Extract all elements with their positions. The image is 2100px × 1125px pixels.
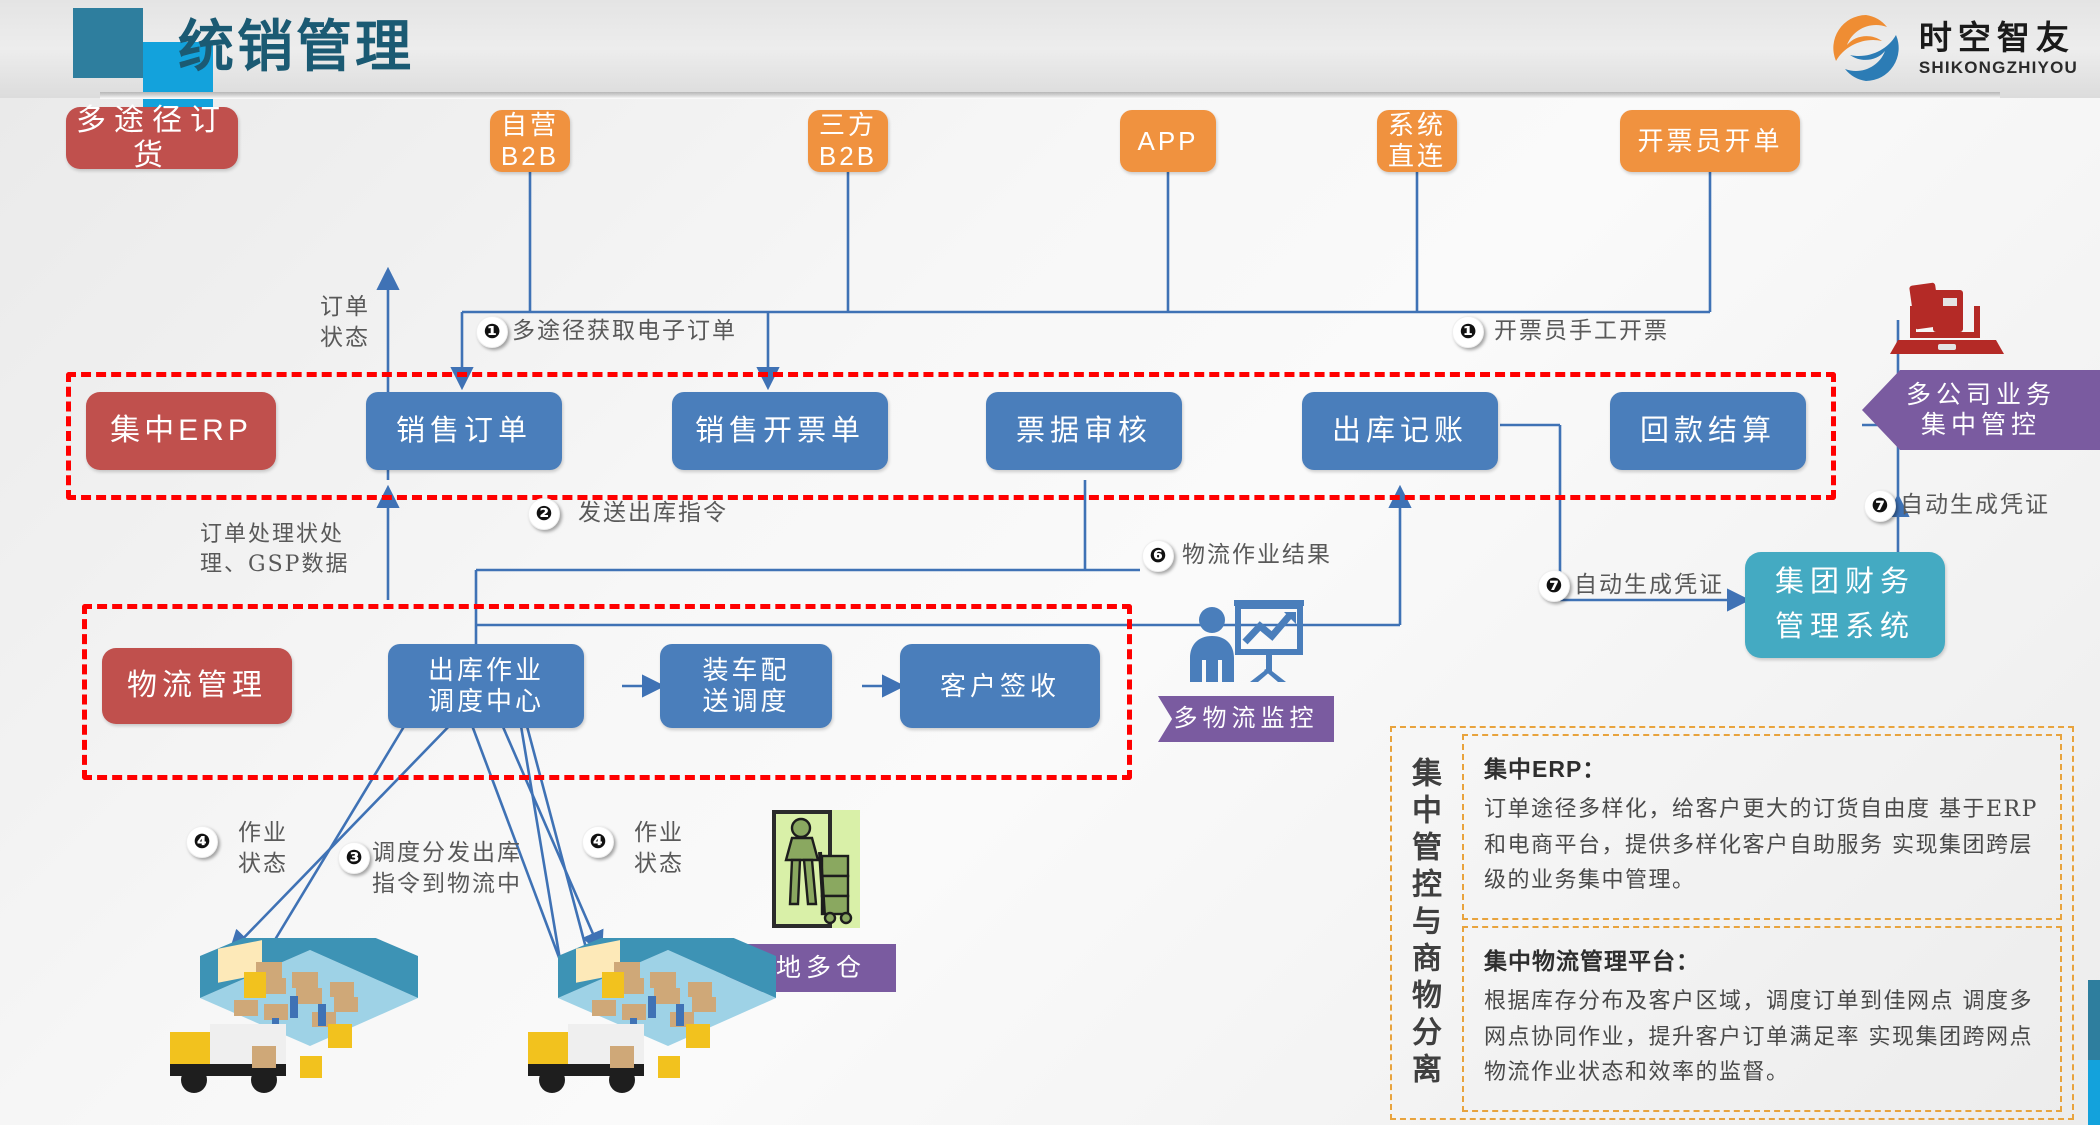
channel-box-self-b2b[interactable]: 自营 B2B [490,110,570,172]
info-panel-side-text: 集中管控与商物分离 [1401,757,1445,1090]
flow-badge-6-num: ❻ [1150,546,1167,566]
flow-label-send-outbound-cmd: 发送出库指令 [578,498,728,529]
erp-zone [66,372,1836,500]
erp-node-sales-invoice[interactable]: 销售开票单 [672,392,888,470]
erp-node-sales-order[interactable]: 销售订单 [366,392,562,470]
flow-badge-1b: ❶ [1452,316,1484,348]
erp-zone-label: 集中ERP [86,392,276,470]
flow-badge-4b: ❹ [582,826,614,858]
flow-badge-7a-num: ❼ [1546,576,1563,596]
flow-label-logistics-result: 物流作业结果 [1182,540,1332,571]
flow-badge-7a: ❼ [1538,570,1570,602]
channel-box-third-b2b[interactable]: 三方 B2B [808,110,888,172]
edge-label-order-status: 订单 状态 [310,292,380,354]
flow-badge-2-num: ❷ [536,504,553,524]
flow-label-multi-channel-eorder: 多途径获取电子订单 [512,316,737,347]
erp-node-payment-settlement[interactable]: 回款结算 [1610,392,1806,470]
flow-badge-4b-num: ❹ [590,832,607,852]
flow-label-auto-voucher-b: 自动生成凭证 [1900,490,2050,521]
channel-box-app[interactable]: APP [1120,110,1216,172]
info-panel-side-label: 集中管控与商物分离 [1392,728,1454,1118]
channel-box-system-direct[interactable]: 系统 直连 [1377,110,1457,172]
flow-label-work-status-a: 作业 状态 [226,818,300,880]
logistics-node-dispatch-center[interactable]: 出库作业 调度中心 [388,644,584,728]
edge-label-order-process-gsp: 订单处理状处 理、GSP数据 [200,520,386,579]
finance-node-group-finance-system[interactable]: 集团财务 管理系统 [1745,552,1945,658]
flow-badge-2: ❷ [528,498,560,530]
banner-multi-company: 多公司业务 集中管控 [1862,370,2100,450]
warehouse-illustration-right [518,938,798,1118]
logistics-zone-label: 物流管理 [102,648,292,724]
erp-node-outbound-accounting[interactable]: 出库记账 [1302,392,1498,470]
flow-badge-1b-num: ❶ [1460,322,1477,342]
info-card-logistics: 集中物流管理平台： 根据库存分布及客户区域，调度订单到佳网点 调度多网点协同作业… [1462,926,2062,1112]
flow-badge-6: ❻ [1142,540,1174,572]
flow-badge-7b-num: ❼ [1872,496,1889,516]
logistics-node-customer-signoff[interactable]: 客户签收 [900,644,1100,728]
section-label-ordering: 多途径订货 [66,107,238,169]
edge-accent-dark [2088,980,2100,1060]
channel-box-clerk-billing[interactable]: 开票员开单 [1620,110,1800,172]
multi-company-computer-icon [1888,278,2006,360]
warehouse-illustration-left [160,938,440,1118]
info-card-erp-body: 订单途径多样化，给客户更大的订货自由度 基于ERP和电商平台，提供多样化客户自助… [1484,792,2042,899]
flow-badge-3: ❸ [338,842,370,874]
flow-badge-4a: ❹ [186,826,218,858]
info-card-erp: 集中ERP： 订单途径多样化，给客户更大的订货自由度 基于ERP和电商平台，提供… [1462,734,2062,920]
flow-label-dispatch-to-logistics: 调度分发出库 指令到物流中 [372,838,522,900]
multi-warehouse-worker-icon [772,810,860,928]
flow-label-manual-billing: 开票员手工开票 [1494,316,1669,347]
erp-node-document-audit[interactable]: 票据审核 [986,392,1182,470]
multi-logistics-chart-icon [1188,598,1312,684]
edge-accent-light [2088,1060,2100,1125]
flow-badge-4a-num: ❹ [194,832,211,852]
logistics-node-loading-delivery[interactable]: 装车配 送调度 [660,644,832,728]
flow-label-auto-voucher-a: 自动生成凭证 [1574,570,1724,601]
banner-multi-logistics: 多物流监控 [1158,696,1334,742]
info-card-logistics-title: 集中物流管理平台： [1484,942,2042,976]
flow-badge-1a-num: ❶ [484,322,501,342]
info-card-erp-title: 集中ERP： [1484,750,2042,784]
flow-badge-1a: ❶ [476,316,508,348]
flow-badge-3-num: ❸ [346,848,363,868]
info-card-logistics-body: 根据库存分布及客户区域，调度订单到佳网点 调度多网点协同作业，提升客户订单满足率… [1484,984,2042,1091]
flow-label-work-status-b: 作业 状态 [622,818,696,880]
info-panel: 集中管控与商物分离 集中ERP： 订单途径多样化，给客户更大的订货自由度 基于E… [1390,726,2074,1120]
flow-badge-7b: ❼ [1864,490,1896,522]
